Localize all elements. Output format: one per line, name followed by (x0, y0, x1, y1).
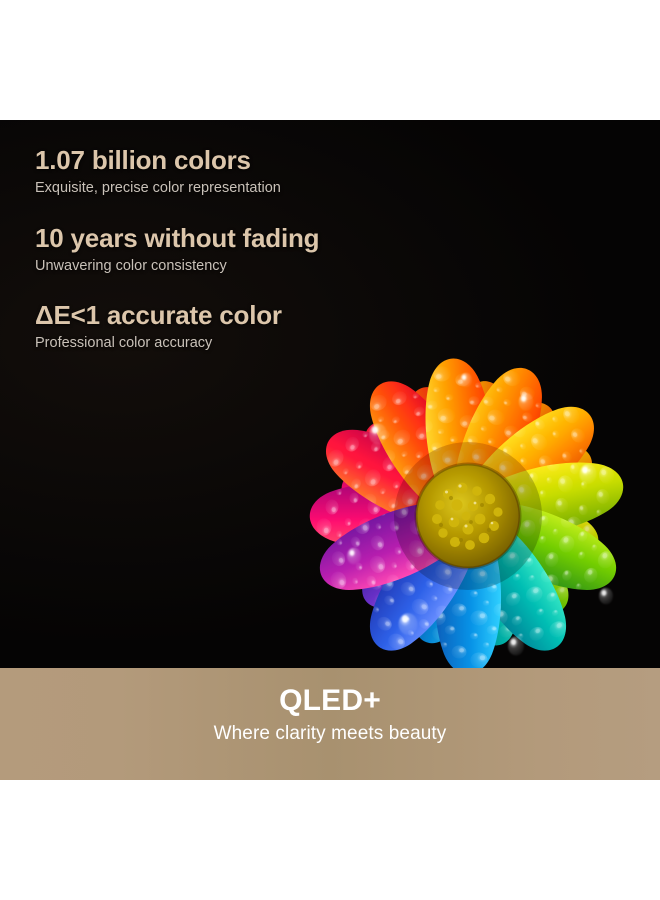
feature-title: 10 years without fading (35, 224, 415, 253)
rainbow-daisy-image (258, 306, 660, 668)
feature-subtitle: Exquisite, precise color representation (35, 180, 415, 197)
feature-item: 10 years without fading Unwavering color… (35, 224, 415, 276)
feature-subtitle: Professional color accuracy (35, 335, 415, 352)
hero-panel: 1.07 billion colors Exquisite, precise c… (0, 120, 660, 668)
brand-tagline: Where clarity meets beauty (214, 723, 447, 746)
brand-banner: QLED+ Where clarity meets beauty (0, 668, 660, 780)
feature-list: 1.07 billion colors Exquisite, precise c… (35, 146, 415, 353)
product-feature-graphic: 1.07 billion colors Exquisite, precise c… (0, 0, 660, 900)
brand-name: QLED+ (279, 684, 381, 717)
brand-banner-content: QLED+ Where clarity meets beauty (0, 668, 660, 780)
feature-item: ΔE<1 accurate color Professional color a… (35, 301, 415, 353)
daisy-center-disc (416, 464, 520, 568)
feature-item: 1.07 billion colors Exquisite, precise c… (35, 146, 415, 198)
rainbow-daisy-svg (258, 306, 660, 668)
feature-title: ΔE<1 accurate color (35, 301, 415, 330)
feature-title: 1.07 billion colors (35, 146, 415, 175)
feature-subtitle: Unwavering color consistency (35, 258, 415, 275)
